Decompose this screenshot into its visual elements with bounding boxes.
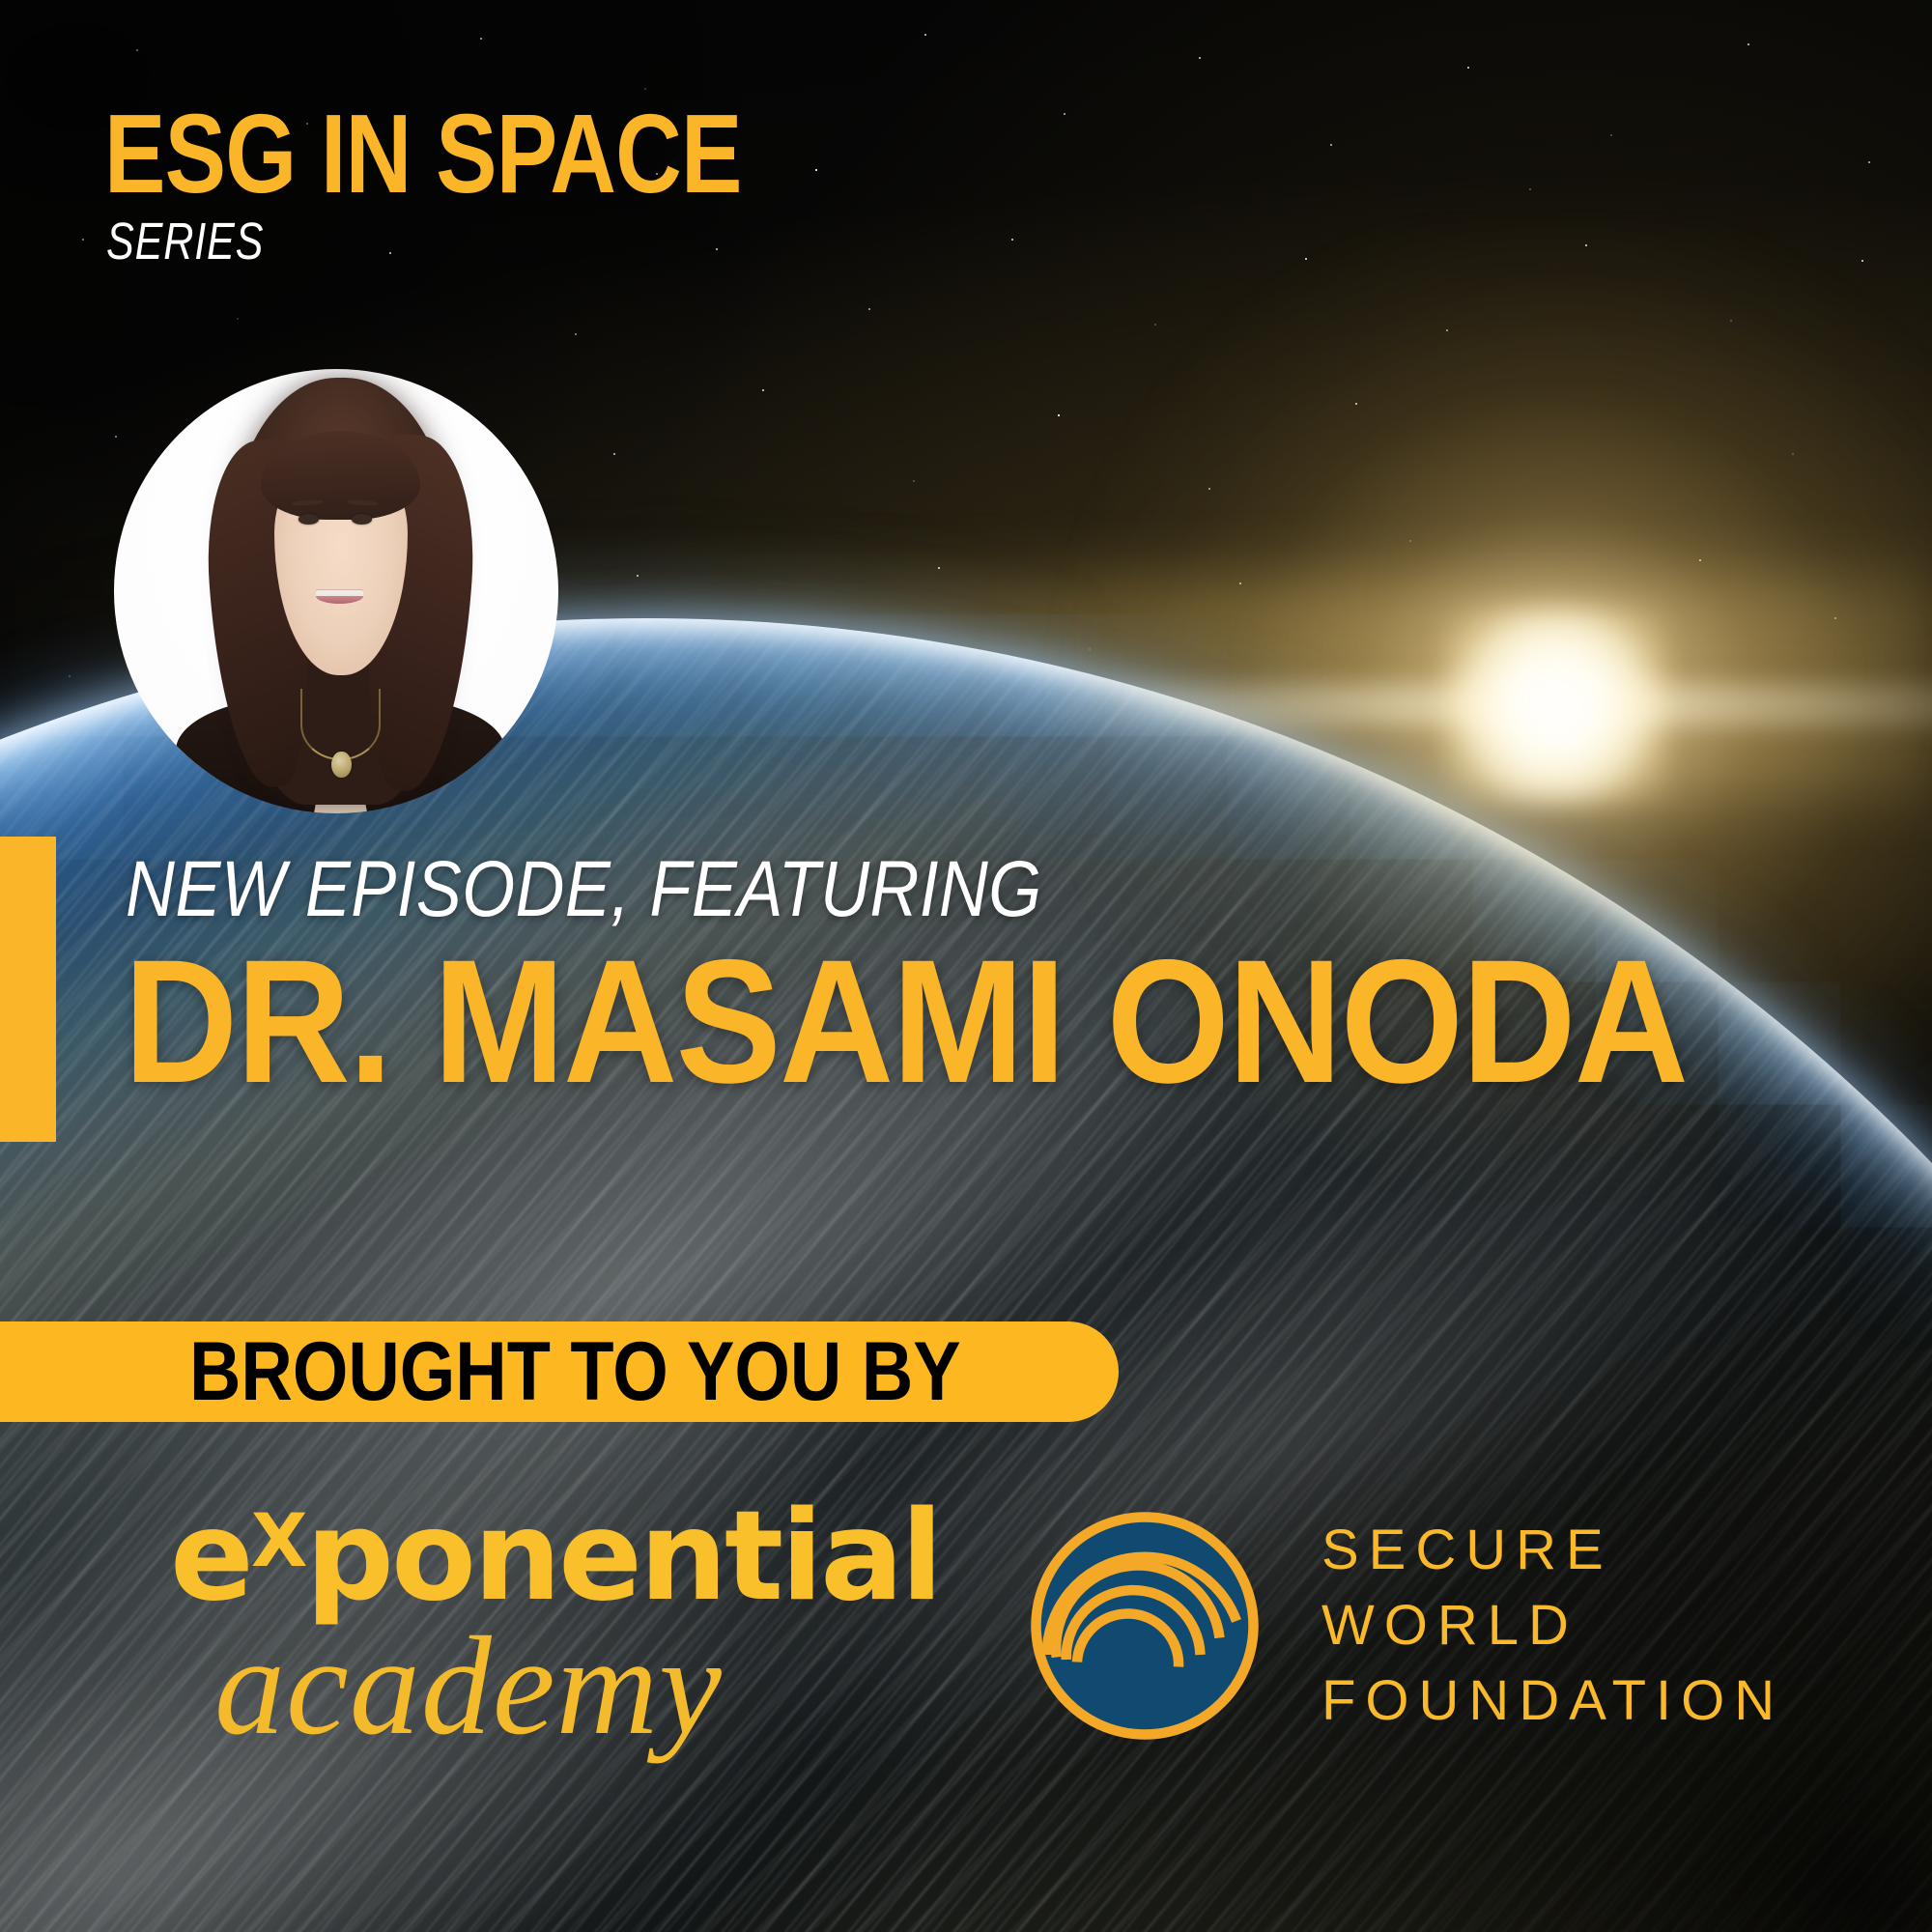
- exponential-wordmark: eXponential: [170, 1495, 940, 1619]
- headshot-portrait: [114, 369, 558, 813]
- swf-line-2: WORLD: [1321, 1588, 1784, 1663]
- exponential-superscript-x: X: [251, 1497, 306, 1583]
- episode-kicker: NEW EPISODE, FEATURING: [126, 850, 1618, 929]
- portrait-necklace-pendant: [331, 752, 351, 779]
- poster-content: ESG IN SPACE SERIES: [0, 0, 1932, 1932]
- swf-line-1: SECURE: [1321, 1513, 1784, 1588]
- series-title-block: ESG IN SPACE SERIES: [104, 100, 881, 268]
- exponential-suffix: ponential: [305, 1485, 940, 1629]
- guest-name: DR. MASAMI ONODA: [124, 941, 1687, 1102]
- portrait-eye-left: [298, 514, 319, 525]
- portrait-eye-right: [352, 514, 372, 525]
- sponsor-logo-secure-world-foundation[interactable]: SECURE WORLD FOUNDATION: [1024, 1505, 1784, 1747]
- series-title: ESG IN SPACE: [104, 100, 742, 208]
- series-subtitle: SERIES: [106, 215, 726, 268]
- accent-bar: [0, 837, 56, 1142]
- episode-block: NEW EPISODE, FEATURING DR. MASAMI ONODA: [126, 850, 1861, 1102]
- brought-to-you-by-banner: BROUGHT TO YOU BY: [0, 1321, 1119, 1422]
- brought-to-you-by-label: BROUGHT TO YOU BY: [189, 1330, 961, 1413]
- promo-poster: ESG IN SPACE SERIES: [0, 0, 1932, 1932]
- avatar: [114, 369, 558, 813]
- portrait-necklace-chain: [300, 689, 381, 760]
- sponsor-logo-exponential-academy[interactable]: eXponential academy: [170, 1495, 940, 1756]
- academy-wordmark: academy: [214, 1615, 940, 1756]
- swf-wordmark: SECURE WORLD FOUNDATION: [1321, 1513, 1784, 1738]
- swf-line-3: FOUNDATION: [1321, 1663, 1784, 1739]
- swf-wave-circle-icon: [1024, 1505, 1265, 1747]
- exponential-prefix: e: [170, 1485, 251, 1629]
